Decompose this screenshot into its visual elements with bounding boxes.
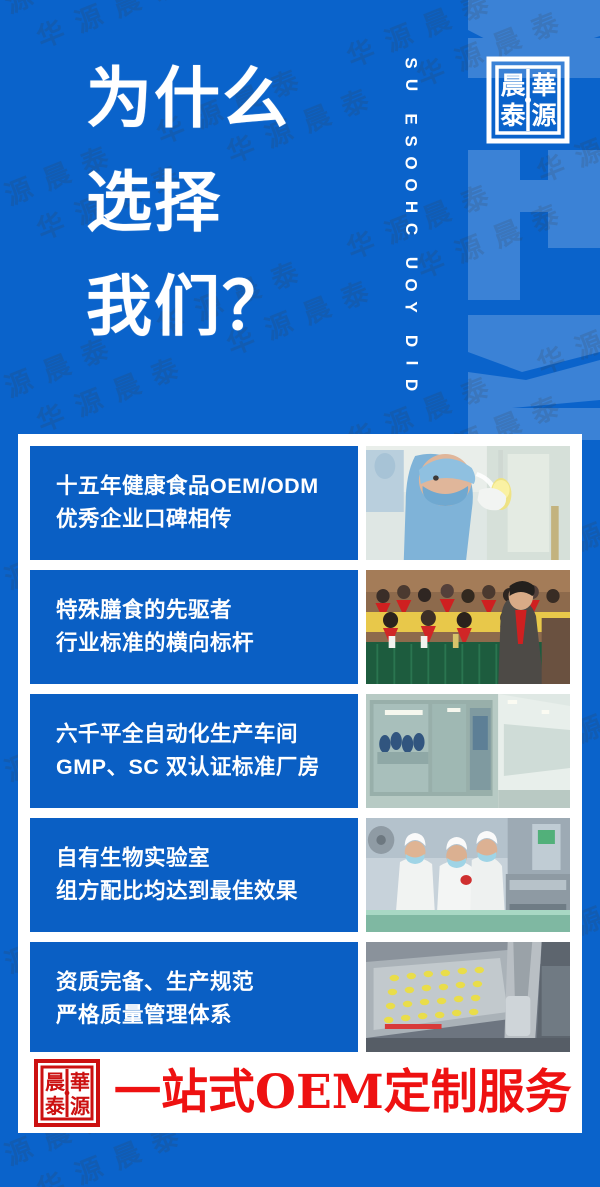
feature-card-list: 十五年健康食品OEM/ODM 优秀企业口碑相传 — [30, 446, 570, 1056]
headline-line-3: 我们？ — [86, 254, 386, 358]
capsule-packaging-machine-photo — [366, 942, 570, 1056]
company-seal-red-icon: 晨 泰 華 源 — [32, 1057, 102, 1129]
svg-text:泰: 泰 — [44, 1094, 66, 1118]
vertical-letter: S — [400, 57, 422, 68]
conference-audience-photo — [366, 570, 570, 684]
vertical-letter: D — [400, 379, 422, 391]
feature-line-2: 组方配比均达到最佳效果 — [56, 875, 358, 908]
feature-line-1: 资质完备、生产规范 — [56, 966, 358, 999]
feature-card-text: 资质完备、生产规范 严格质量管理体系 — [30, 942, 358, 1056]
vertical-letter: S — [400, 135, 422, 146]
vertical-letter: D — [400, 335, 422, 347]
lab-technician-photo — [366, 446, 570, 560]
feature-card[interactable]: 自有生物实验室 组方配比均达到最佳效果 — [30, 818, 570, 932]
feature-card-text: 特殊膳食的先驱者 行业标准的横向标杆 — [30, 570, 358, 684]
bottom-slogan-bar: 晨 泰 華 源 一站式OEM定制服务 — [18, 1052, 582, 1133]
feature-card[interactable]: 资质完备、生产规范 严格质量管理体系 — [30, 942, 570, 1056]
header: 为什么 选择 我们？ D I D · Y O U · C H O O S E ·… — [0, 0, 600, 434]
vertical-tagline: D I D · Y O U · C H O O S E · U S — [396, 14, 426, 396]
feature-line-2: 严格质量管理体系 — [56, 999, 358, 1032]
svg-text:源: 源 — [70, 1094, 90, 1118]
headline-line-2: 选择 — [86, 150, 386, 254]
feature-line-1: 特殊膳食的先驱者 — [56, 594, 358, 627]
vertical-letter: U — [400, 257, 422, 269]
feature-line-1: 自有生物实验室 — [56, 842, 358, 875]
headline-line-1: 为什么 — [86, 46, 386, 150]
vertical-letter: C — [400, 223, 422, 235]
poster-root: 为什么 选择 我们？ D I D · Y O U · C H O O S E ·… — [0, 0, 600, 1187]
feature-line-1: 十五年健康食品OEM/ODM — [56, 470, 358, 503]
feature-line-1: 六千平全自动化生产车间 — [56, 718, 358, 751]
feature-card-text: 六千平全自动化生产车间 GMP、SC 双认证标准厂房 — [30, 694, 358, 808]
page-title: 为什么 选择 我们？ — [86, 46, 386, 358]
feature-line-2: 优秀企业口碑相传 — [56, 503, 358, 536]
feature-card[interactable]: 六千平全自动化生产车间 GMP、SC 双认证标准厂房 — [30, 694, 570, 808]
svg-text:華: 華 — [70, 1070, 90, 1094]
feature-card[interactable]: 特殊膳食的先驱者 行业标准的横向标杆 — [30, 570, 570, 684]
vertical-letter: U — [400, 79, 422, 91]
vertical-letter: O — [400, 178, 422, 191]
vertical-letter: O — [400, 156, 422, 169]
vertical-letter: E — [400, 113, 422, 124]
company-seal-icon: 晨 泰 華 源 — [484, 54, 572, 146]
svg-text:泰: 泰 — [500, 101, 526, 130]
vertical-letter: Y — [400, 301, 422, 312]
vertical-letter: H — [400, 201, 422, 213]
svg-text:源: 源 — [531, 101, 556, 130]
feature-line-2: 行业标准的横向标杆 — [56, 627, 358, 660]
feature-line-2: GMP、SC 双认证标准厂房 — [56, 751, 358, 784]
vertical-letter: I — [400, 361, 422, 366]
features-panel: 十五年健康食品OEM/ODM 优秀企业口碑相传 — [18, 434, 582, 1133]
feature-card-text: 自有生物实验室 组方配比均达到最佳效果 — [30, 818, 358, 932]
svg-text:晨: 晨 — [500, 71, 526, 100]
feature-card-text: 十五年健康食品OEM/ODM 优秀企业口碑相传 — [30, 446, 358, 560]
svg-text:晨: 晨 — [45, 1070, 66, 1094]
feature-card[interactable]: 十五年健康食品OEM/ODM 优秀企业口碑相传 — [30, 446, 570, 560]
vertical-letter: O — [400, 278, 422, 291]
bottom-slogan-text: 一站式OEM定制服务 — [114, 1067, 572, 1119]
svg-text:華: 華 — [531, 71, 556, 100]
production-line-staff-photo — [366, 818, 570, 932]
cleanroom-corridor-photo — [366, 694, 570, 808]
